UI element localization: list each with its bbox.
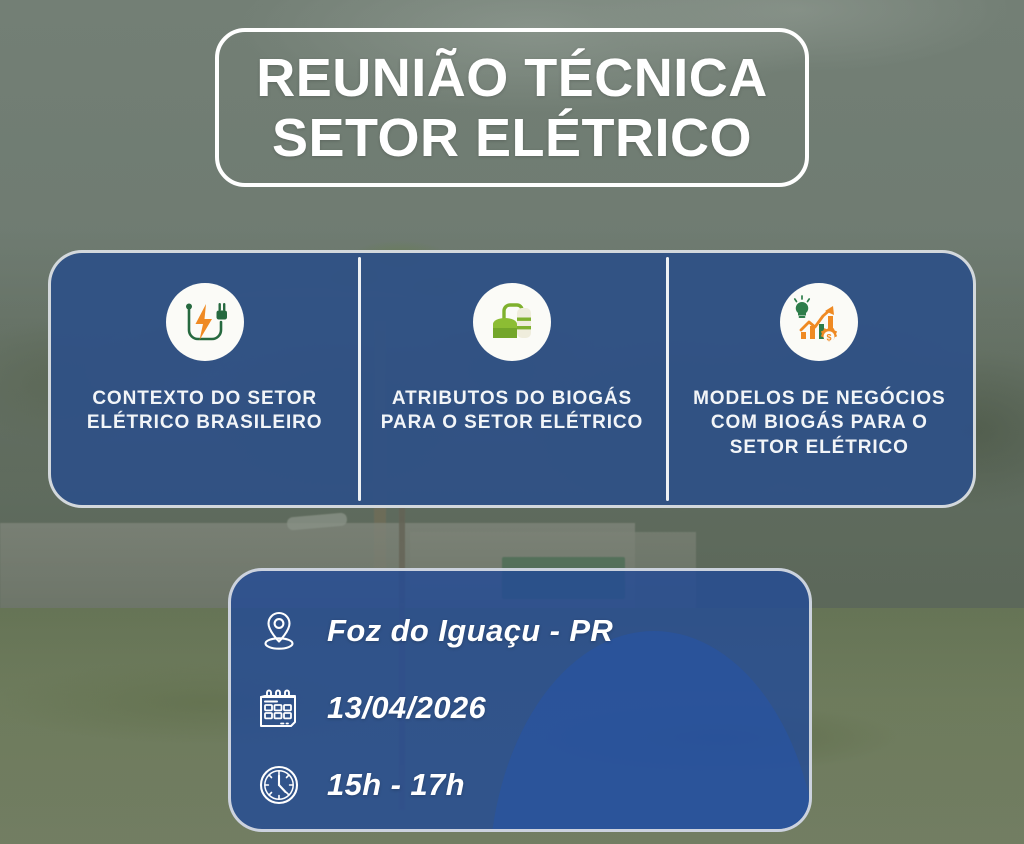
event-title-line-1: REUNIÃO TÉCNICA (256, 51, 768, 105)
topic-label: MODELOS DE NEGÓCIOS COM BIOGÁS PARA O SE… (680, 387, 959, 460)
event-details-card: Foz do Iguaçu - PR (228, 568, 812, 832)
topic-item-contexto: CONTEXTO DO SETOR ELÉTRICO BRASILEIRO (51, 253, 358, 505)
electric-plug-icon (166, 283, 244, 361)
biogas-plant-icon (473, 283, 551, 361)
topics-card: CONTEXTO DO SETOR ELÉTRICO BRASILEIRO AT… (48, 250, 976, 508)
event-title-box: REUNIÃO TÉCNICA SETOR ELÉTRICO (215, 28, 809, 187)
svg-text:$: $ (827, 332, 832, 342)
topic-item-atributos: ATRIBUTOS DO BIOGÁS PARA O SETOR ELÉTRIC… (358, 253, 665, 505)
event-detail-location: Foz do Iguaçu - PR (253, 597, 809, 664)
topic-label: CONTEXTO DO SETOR ELÉTRICO BRASILEIRO (65, 387, 344, 436)
calendar-icon (253, 682, 305, 734)
location-pin-icon (253, 605, 305, 657)
event-detail-time: 15h - 17h (253, 751, 809, 818)
event-time-text: 15h - 17h (327, 767, 465, 803)
event-detail-date: 13/04/2026 (253, 674, 809, 741)
topic-label: ATRIBUTOS DO BIOGÁS PARA O SETOR ELÉTRIC… (372, 387, 651, 436)
clock-icon (253, 759, 305, 811)
business-growth-icon: $ (780, 283, 858, 361)
event-title-line-2: SETOR ELÉTRICO (272, 111, 752, 165)
topic-item-modelos: $ MODELOS DE NEGÓCIOS COM BIOGÁS PARA O … (666, 253, 973, 505)
event-date-text: 13/04/2026 (327, 690, 486, 726)
event-location-text: Foz do Iguaçu - PR (327, 613, 613, 649)
